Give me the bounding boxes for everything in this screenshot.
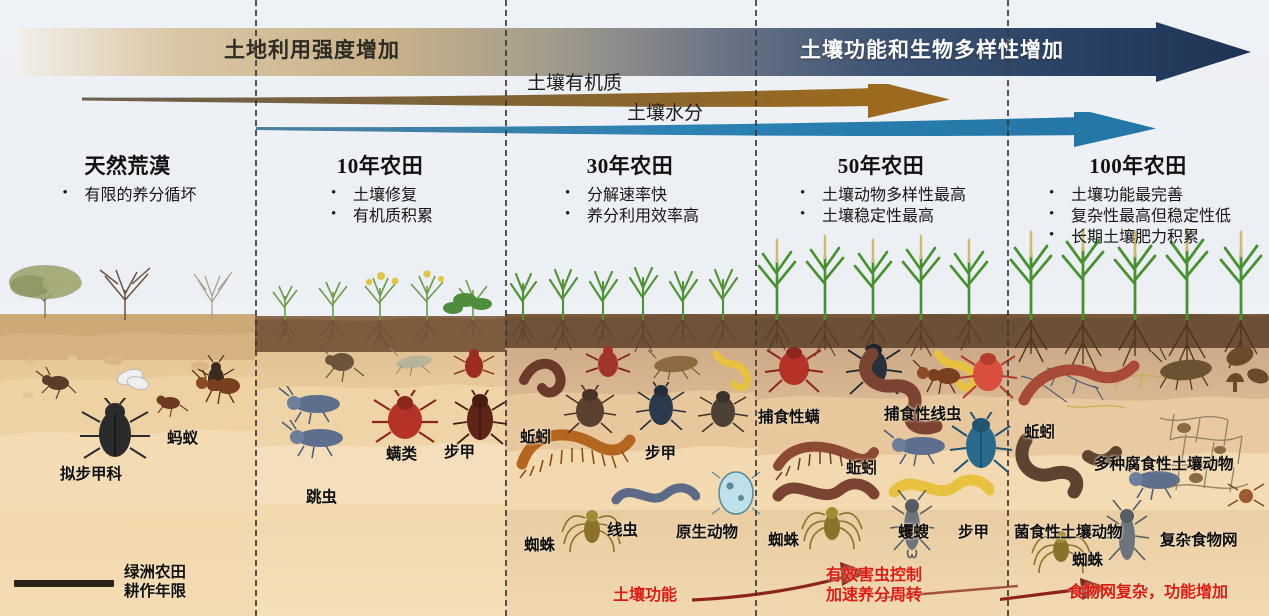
organism-label-mite: 螨类: [386, 442, 417, 464]
legend-cultivation-years: 绿洲农田 耕作年限: [14, 564, 186, 602]
ant-50y: [902, 360, 966, 398]
springtail-2: [278, 420, 358, 460]
organism-label-spider-100y: 蜘蛛: [1072, 548, 1103, 570]
organism-label-spider-30y: 蜘蛛: [524, 533, 555, 555]
column-header-farmland-30y: 30年农田 分解速率快 养分利用效率高: [505, 150, 755, 227]
organism-label-earthworm-100y: 蚯蚓: [1024, 420, 1055, 442]
beetle-30y-right: [694, 388, 752, 432]
organism-label-earthworm-30y: 蚯蚓: [520, 425, 551, 447]
column-bullets-farmland-50y: 土壤动物多样性最高 土壤稳定性最高: [796, 185, 966, 227]
predatory-mite-50y: [958, 344, 1018, 400]
spider-50y: [800, 495, 864, 553]
bullet: 土壤修复: [327, 185, 433, 206]
column-bullets-farmland-10y: 土壤修复 有机质积累: [327, 185, 433, 227]
organism-label-earthworm-50y: 蚯蚓: [846, 456, 877, 478]
column-title-farmland-30y: 30年农田: [505, 150, 755, 180]
small-beetle-30y: [560, 385, 622, 433]
column-title-farmland-10y: 10年农田: [255, 150, 505, 180]
column-bullets-farmland-30y: 分解速率快 养分利用效率高: [561, 185, 699, 227]
soil-moisture-arrow: [252, 112, 1162, 153]
bullet: 土壤功能最完善: [1045, 185, 1231, 206]
organism-label-darkling-beetle: 拟步甲科: [60, 462, 122, 484]
organism-label-ground-beetle-10y: 步甲: [444, 440, 475, 462]
ground-beetle-30y: [632, 382, 690, 430]
function-mid-line2: 加速养分周转: [826, 587, 922, 604]
darkling-beetle: [70, 398, 160, 464]
soil-organic-matter-label: 土壤有机质: [527, 68, 622, 95]
function-mid-label: 有效害虫控制 加速养分周转: [826, 566, 922, 606]
column-divider-3: [755, 0, 757, 616]
farmland-30y-plants: [505, 250, 755, 320]
legend-line-1: 绿洲农田: [124, 564, 186, 583]
infographic-root: 土地利用强度增加 土壤功能和生物多样性增加 土壤有机质: [0, 0, 1269, 616]
bullet: 土壤稳定性最高: [796, 206, 966, 227]
legend-line-2: 耕作年限: [124, 583, 186, 602]
farmland-10y-plants: [255, 248, 505, 320]
column-title-natural-desert: 天然荒漠: [0, 150, 255, 180]
farmland-50y-plants: [755, 232, 1007, 320]
bullet: 复杂性最高但稳定性低: [1045, 206, 1231, 227]
function-mid-line1: 有效害虫控制: [826, 567, 922, 584]
function-end-label: 食物网复杂，功能增加: [1068, 583, 1228, 603]
soil-moisture-label: 土壤水分: [627, 98, 703, 125]
organism-label-ground-beetle-30y: 步甲: [645, 441, 676, 463]
organism-label-fungivorous-fauna: 菌食性土壤动物: [1014, 520, 1123, 542]
bullet: 有机质积累: [327, 206, 433, 227]
organism-label-saprophagous-fauna: 多种腐食性土壤动物: [1094, 452, 1234, 474]
land-use-gradient-arrow: [18, 22, 1251, 82]
column-bullets-natural-desert: 有限的养分循坏: [58, 185, 196, 206]
banner-right-label: 土壤功能和生物多样性增加: [800, 34, 1064, 64]
organism-label-predatory-mite: 捕食性螨: [758, 405, 820, 427]
column-header-farmland-50y: 50年农田 土壤动物多样性最高 土壤稳定性最高: [755, 150, 1007, 227]
column-header-natural-desert: 天然荒漠 有限的养分循坏: [0, 150, 255, 206]
bullet: 长期土壤肥力积累: [1045, 227, 1231, 248]
bullet: 有限的养分循坏: [58, 185, 196, 206]
ant-desert: [180, 370, 250, 410]
column-title-farmland-50y: 50年农田: [755, 150, 1007, 180]
legend-text: 绿洲农田 耕作年限: [124, 564, 186, 602]
organism-label-ground-beetle-50y: 步甲: [958, 520, 989, 542]
organism-label-spider-50y: 蜘蛛: [768, 528, 799, 550]
bullet: 土壤动物多样性最高: [796, 185, 966, 206]
column-divider-1: [255, 0, 257, 616]
bullet: 养分利用效率高: [561, 206, 699, 227]
banner-left-label: 土地利用强度增加: [224, 34, 400, 64]
organism-label-nematode: 线虫: [607, 518, 638, 540]
column-divider-2: [505, 0, 507, 616]
organism-label-springtail: 跳虫: [306, 485, 337, 507]
ground-beetle-10y: [450, 390, 510, 446]
organism-label-protozoa: 原生动物: [676, 520, 738, 542]
function-start-label: 土壤功能: [613, 586, 677, 606]
column-header-farmland-100y: 100年农田 土壤功能最完善 复杂性最高但稳定性低 长期土壤肥力积累: [1007, 150, 1269, 248]
organism-label-predatory-nematode: 捕食性线虫: [884, 402, 962, 424]
organism-label-earwig: 蠼螋: [898, 520, 929, 542]
bullet: 分解速率快: [561, 185, 699, 206]
column-header-farmland-10y: 10年农田 土壤修复 有机质积累: [255, 150, 505, 227]
column-title-farmland-100y: 100年农田: [1007, 150, 1269, 180]
organism-label-complex-food-web: 复杂食物网: [1160, 528, 1238, 550]
column-divider-4: [1007, 0, 1009, 616]
column-bullets-farmland-100y: 土壤功能最完善 复杂性最高但稳定性低 长期土壤肥力积累: [1045, 185, 1231, 248]
desert-shrubs: [0, 250, 255, 320]
organism-label-ant: 蚂蚁: [167, 426, 198, 448]
mite: [370, 390, 440, 446]
legend-bar: [14, 580, 114, 587]
